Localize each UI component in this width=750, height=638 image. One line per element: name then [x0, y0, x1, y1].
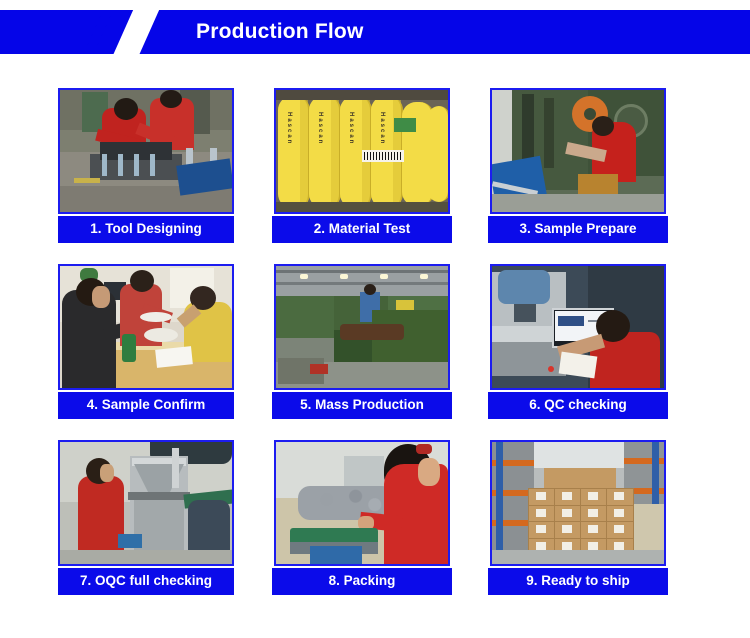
step-photo-3	[490, 88, 666, 214]
step-caption-5: 5. Mass Production	[272, 392, 452, 419]
step-photo-2: HascanHascan HascanHascan	[274, 88, 450, 214]
step-photo-5	[274, 264, 450, 390]
step-card-7[interactable]: 7. OQC full checking	[58, 440, 234, 595]
page-header: Production Flow	[0, 10, 750, 54]
step-caption-6: 6. QC checking	[488, 392, 668, 419]
step-photo-1	[58, 88, 234, 214]
page-title: Production Flow	[196, 10, 363, 54]
step-card-1[interactable]: 1. Tool Designing	[58, 88, 234, 243]
step-caption-4: 4. Sample Confirm	[58, 392, 234, 419]
step-caption-7: 7. OQC full checking	[58, 568, 234, 595]
step-card-5[interactable]: 5. Mass Production	[274, 264, 450, 419]
step-caption-1: 1. Tool Designing	[58, 216, 234, 243]
diagonal-slash-icon	[108, 10, 162, 54]
step-caption-3: 3. Sample Prepare	[488, 216, 668, 243]
step-photo-9	[490, 440, 666, 566]
production-flow-grid: 1. Tool Designing HascanHascan HascanHas…	[0, 62, 750, 622]
step-caption-9: 9. Ready to ship	[488, 568, 668, 595]
step-photo-6	[490, 264, 666, 390]
step-photo-4	[58, 264, 234, 390]
step-card-6[interactable]: 6. QC checking	[490, 264, 666, 419]
step-photo-7	[58, 440, 234, 566]
step-caption-2: 2. Material Test	[272, 216, 452, 243]
step-card-3[interactable]: 3. Sample Prepare	[490, 88, 666, 243]
step-caption-8: 8. Packing	[272, 568, 452, 595]
step-photo-8	[274, 440, 450, 566]
step-card-2[interactable]: HascanHascan HascanHascan 2. Material Te…	[274, 88, 450, 243]
step-card-8[interactable]: 8. Packing	[274, 440, 450, 595]
step-card-9[interactable]: 9. Ready to ship	[490, 440, 666, 595]
diagonal-slash-accent-icon	[78, 10, 116, 54]
step-card-4[interactable]: 4. Sample Confirm	[58, 264, 234, 419]
